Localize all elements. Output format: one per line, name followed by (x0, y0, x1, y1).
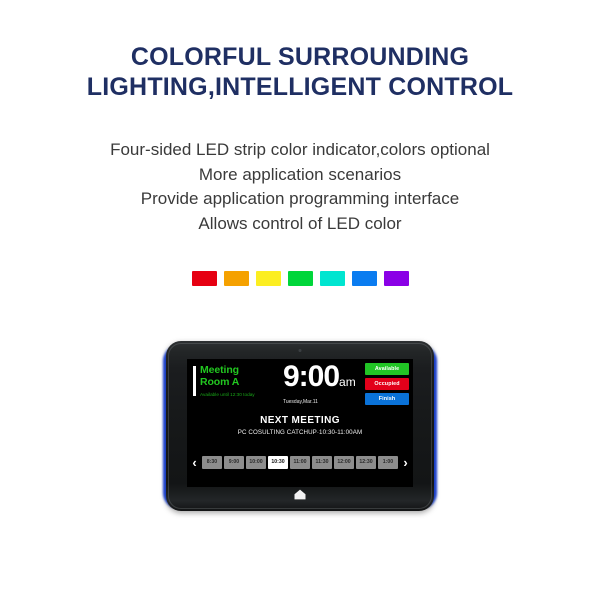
status-button-occupied[interactable]: Occupied (365, 378, 409, 390)
feature-line-3: Provide application programming interfac… (0, 187, 600, 212)
room-name: Meeting Room A (200, 365, 255, 388)
swatch-red (192, 271, 217, 286)
tablet-body: Meeting Room A Available until 12:30 tod… (166, 341, 434, 511)
home-button[interactable] (294, 487, 307, 505)
room-info: Meeting Room A Available until 12:30 tod… (193, 365, 255, 398)
room-accent-bar (193, 366, 196, 396)
timeline-bar: ‹ 8:30 9:00 10:00 10:30 11:00 11:30 12:0… (187, 453, 413, 471)
swatch-blue (352, 271, 377, 286)
feature-list: Four-sided LED strip color indicator,col… (0, 138, 600, 236)
camera-icon (299, 349, 302, 352)
timeline-slot[interactable]: 8:30 (202, 456, 222, 469)
status-button-finish[interactable]: Finish (365, 393, 409, 405)
next-meeting-title: NEXT MEETING (187, 414, 413, 427)
timeline-slot[interactable]: 11:00 (290, 456, 310, 469)
swatch-purple (384, 271, 409, 286)
feature-line-1: Four-sided LED strip color indicator,col… (0, 138, 600, 163)
timeline-slot[interactable]: 10:00 (246, 456, 266, 469)
timeline-slot[interactable]: 9:00 (224, 456, 244, 469)
page-title: COLORFUL SURROUNDING LIGHTING,INTELLIGEN… (0, 42, 600, 102)
swatch-green (288, 271, 313, 286)
next-meeting-block: NEXT MEETING PC COSULTING CATCHUP·10:30-… (187, 414, 413, 439)
clock-ampm: am (339, 375, 356, 389)
screen-header: Meeting Room A Available until 12:30 tod… (187, 359, 413, 411)
tablet-screen: Meeting Room A Available until 12:30 tod… (187, 359, 413, 487)
clock-time-value: 9:00 (283, 360, 339, 393)
status-button-group: Available Occupied Finish (365, 363, 409, 405)
swatch-yellow (256, 271, 281, 286)
timeline-slot-active[interactable]: 10:30 (268, 456, 288, 469)
home-icon (294, 489, 307, 500)
page-title-line-1: COLORFUL SURROUNDING (0, 42, 600, 72)
timeline-prev-arrow-icon[interactable]: ‹ (189, 456, 200, 469)
room-availability-text: Available until 12:30 today (200, 391, 255, 398)
led-color-swatches (0, 271, 600, 286)
timeline-slot[interactable]: 12:30 (356, 456, 376, 469)
screen-bottom-bar (187, 473, 413, 487)
feature-line-4: Allows control of LED color (0, 212, 600, 237)
page-root: COLORFUL SURROUNDING LIGHTING,INTELLIGEN… (0, 0, 600, 600)
timeline-slot[interactable]: 1:00 (378, 456, 398, 469)
timeline-slot[interactable]: 11:30 (312, 456, 332, 469)
timeline-slot-list: 8:30 9:00 10:00 10:30 11:00 11:30 12:00 … (202, 456, 398, 469)
page-title-line-2: LIGHTING,INTELLIGENT CONTROL (0, 72, 600, 102)
feature-line-2: More application scenarios (0, 163, 600, 188)
timeline-slot[interactable]: 12:00 (334, 456, 354, 469)
status-button-available[interactable]: Available (365, 363, 409, 375)
swatch-cyan (320, 271, 345, 286)
next-meeting-detail: PC COSULTING CATCHUP·10:30-11:00AM (187, 427, 413, 439)
swatch-orange (224, 271, 249, 286)
timeline-next-arrow-icon[interactable]: › (400, 456, 411, 469)
device-illustration: Meeting Room A Available until 12:30 tod… (166, 341, 434, 513)
